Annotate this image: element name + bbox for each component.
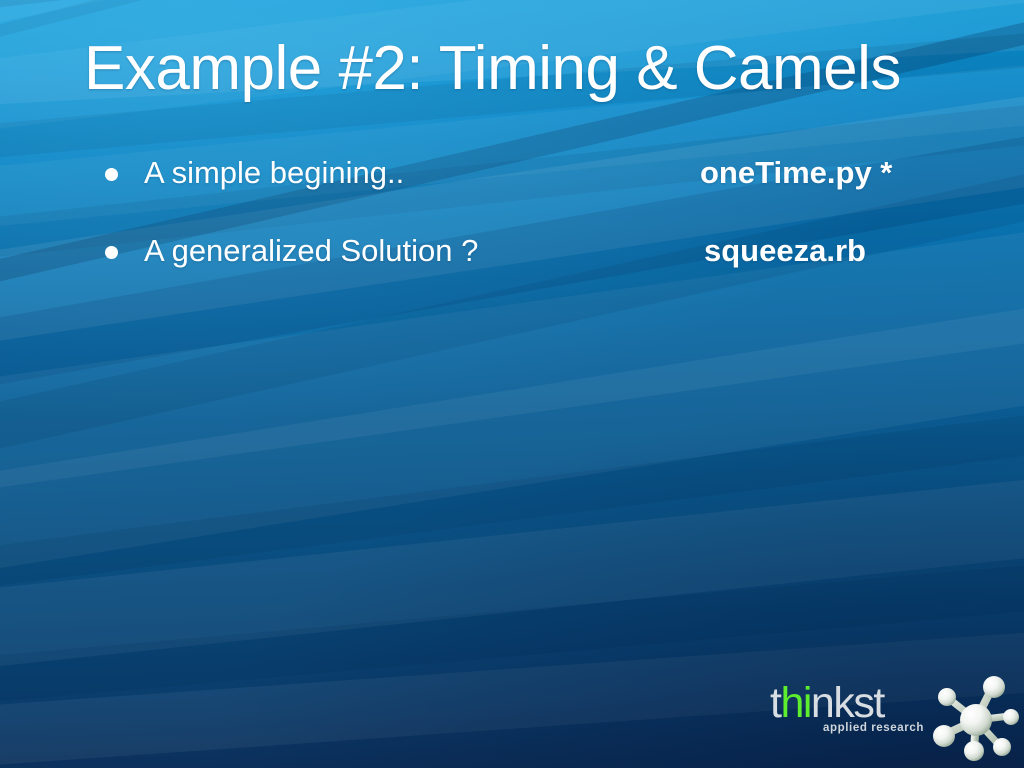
list-item: A simple begining.. oneTime.py * (100, 152, 960, 230)
bullet-script-name: oneTime.py * (700, 155, 892, 191)
logo-wordmark: thinkst (770, 682, 884, 725)
logo-word-part-2: hi (780, 679, 810, 727)
bullet-dot-icon (105, 168, 118, 181)
slide-canvas: Example #2: Timing & Camels A simple beg… (0, 0, 1024, 768)
logo-word-part-1: t (770, 679, 780, 727)
slide-content: Example #2: Timing & Camels A simple beg… (0, 0, 1024, 768)
list-item: A generalized Solution ? squeeza.rb (100, 230, 960, 308)
bullet-script-name: squeeza.rb (704, 233, 866, 269)
logo-word-part-3: nkst (811, 679, 884, 727)
slide-title: Example #2: Timing & Camels (84, 36, 964, 101)
bullet-dot-icon (105, 246, 118, 259)
thinkst-logo: thinkst applied research (770, 682, 1020, 762)
logo-tagline: applied research (770, 722, 924, 734)
bullet-label: A simple begining.. (144, 155, 404, 191)
bullet-list: A simple begining.. oneTime.py * A gener… (100, 152, 960, 308)
molecule-icon (930, 676, 1022, 762)
bullet-label: A generalized Solution ? (144, 233, 478, 269)
